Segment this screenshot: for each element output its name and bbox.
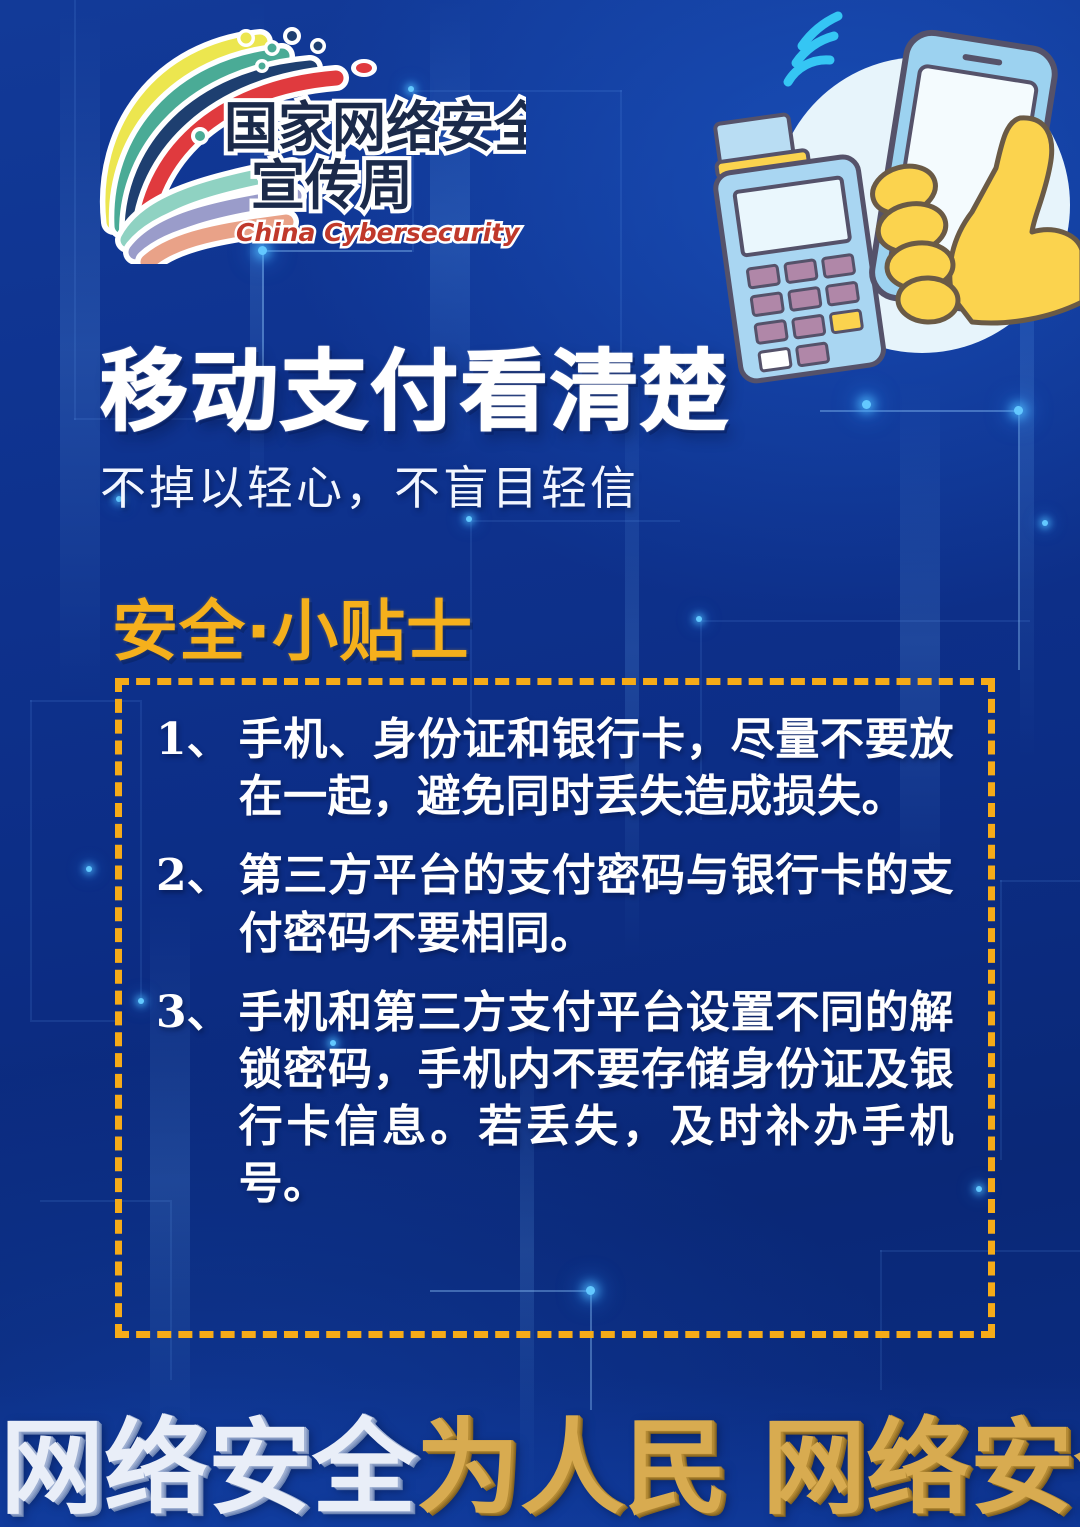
footer-slogan: 网络安全为人民网络安全靠人民 (0, 1411, 1080, 1525)
tip-text: 手机、身份证和银行卡，尽量不要放在一起，避免同时丢失造成损失。 (239, 711, 954, 825)
tip-item-1: 1、 手机、身份证和银行卡，尽量不要放在一起，避免同时丢失造成损失。 (156, 711, 954, 825)
china-cybersecurity-week-logo: 国家网络安全 宣传周 China Cybersecurity Week (96, 26, 526, 264)
tip-number: 3、 (156, 984, 239, 1213)
poster-root: 国家网络安全 宣传周 China Cybersecurity Week (0, 0, 1080, 1527)
title-block: 移动支付看清楚 不掉以轻心，不盲目轻信 (100, 346, 980, 518)
tip-item-2: 2、 第三方平台的支付密码与银行卡的支付密码不要相同。 (156, 847, 954, 961)
page-subtitle: 不掉以轻心，不盲目轻信 (100, 452, 980, 518)
tip-number: 2、 (156, 847, 239, 961)
tips-box: 1、 手机、身份证和银行卡，尽量不要放在一起，避免同时丢失造成损失。 2、 第三… (115, 678, 995, 1338)
tip-number: 1、 (156, 711, 239, 825)
page-title: 移动支付看清楚 (100, 346, 980, 438)
slogan-part1-gold: 为人民 (416, 1411, 728, 1525)
slogan-part1-silver: 网络安全 (0, 1411, 416, 1525)
tip-text: 手机和第三方支付平台设置不同的解锁密码，手机内不要存储身份证及银行卡信息。若丢失… (239, 984, 954, 1213)
tip-item-3: 3、 手机和第三方支付平台设置不同的解锁密码，手机内不要存储身份证及银行卡信息。… (156, 984, 954, 1213)
mobile-payment-illustration (690, 0, 1080, 392)
tips-heading: 安全·小贴士 (112, 578, 473, 674)
logo-line1: 国家网络安全 (224, 96, 526, 159)
slogan-part2-gold: 网络安全 (762, 1411, 1080, 1525)
logo-english: China Cybersecurity Week (236, 218, 526, 247)
logo-line2: 宣传周 (251, 154, 413, 217)
tip-text: 第三方平台的支付密码与银行卡的支付密码不要相同。 (239, 847, 954, 961)
